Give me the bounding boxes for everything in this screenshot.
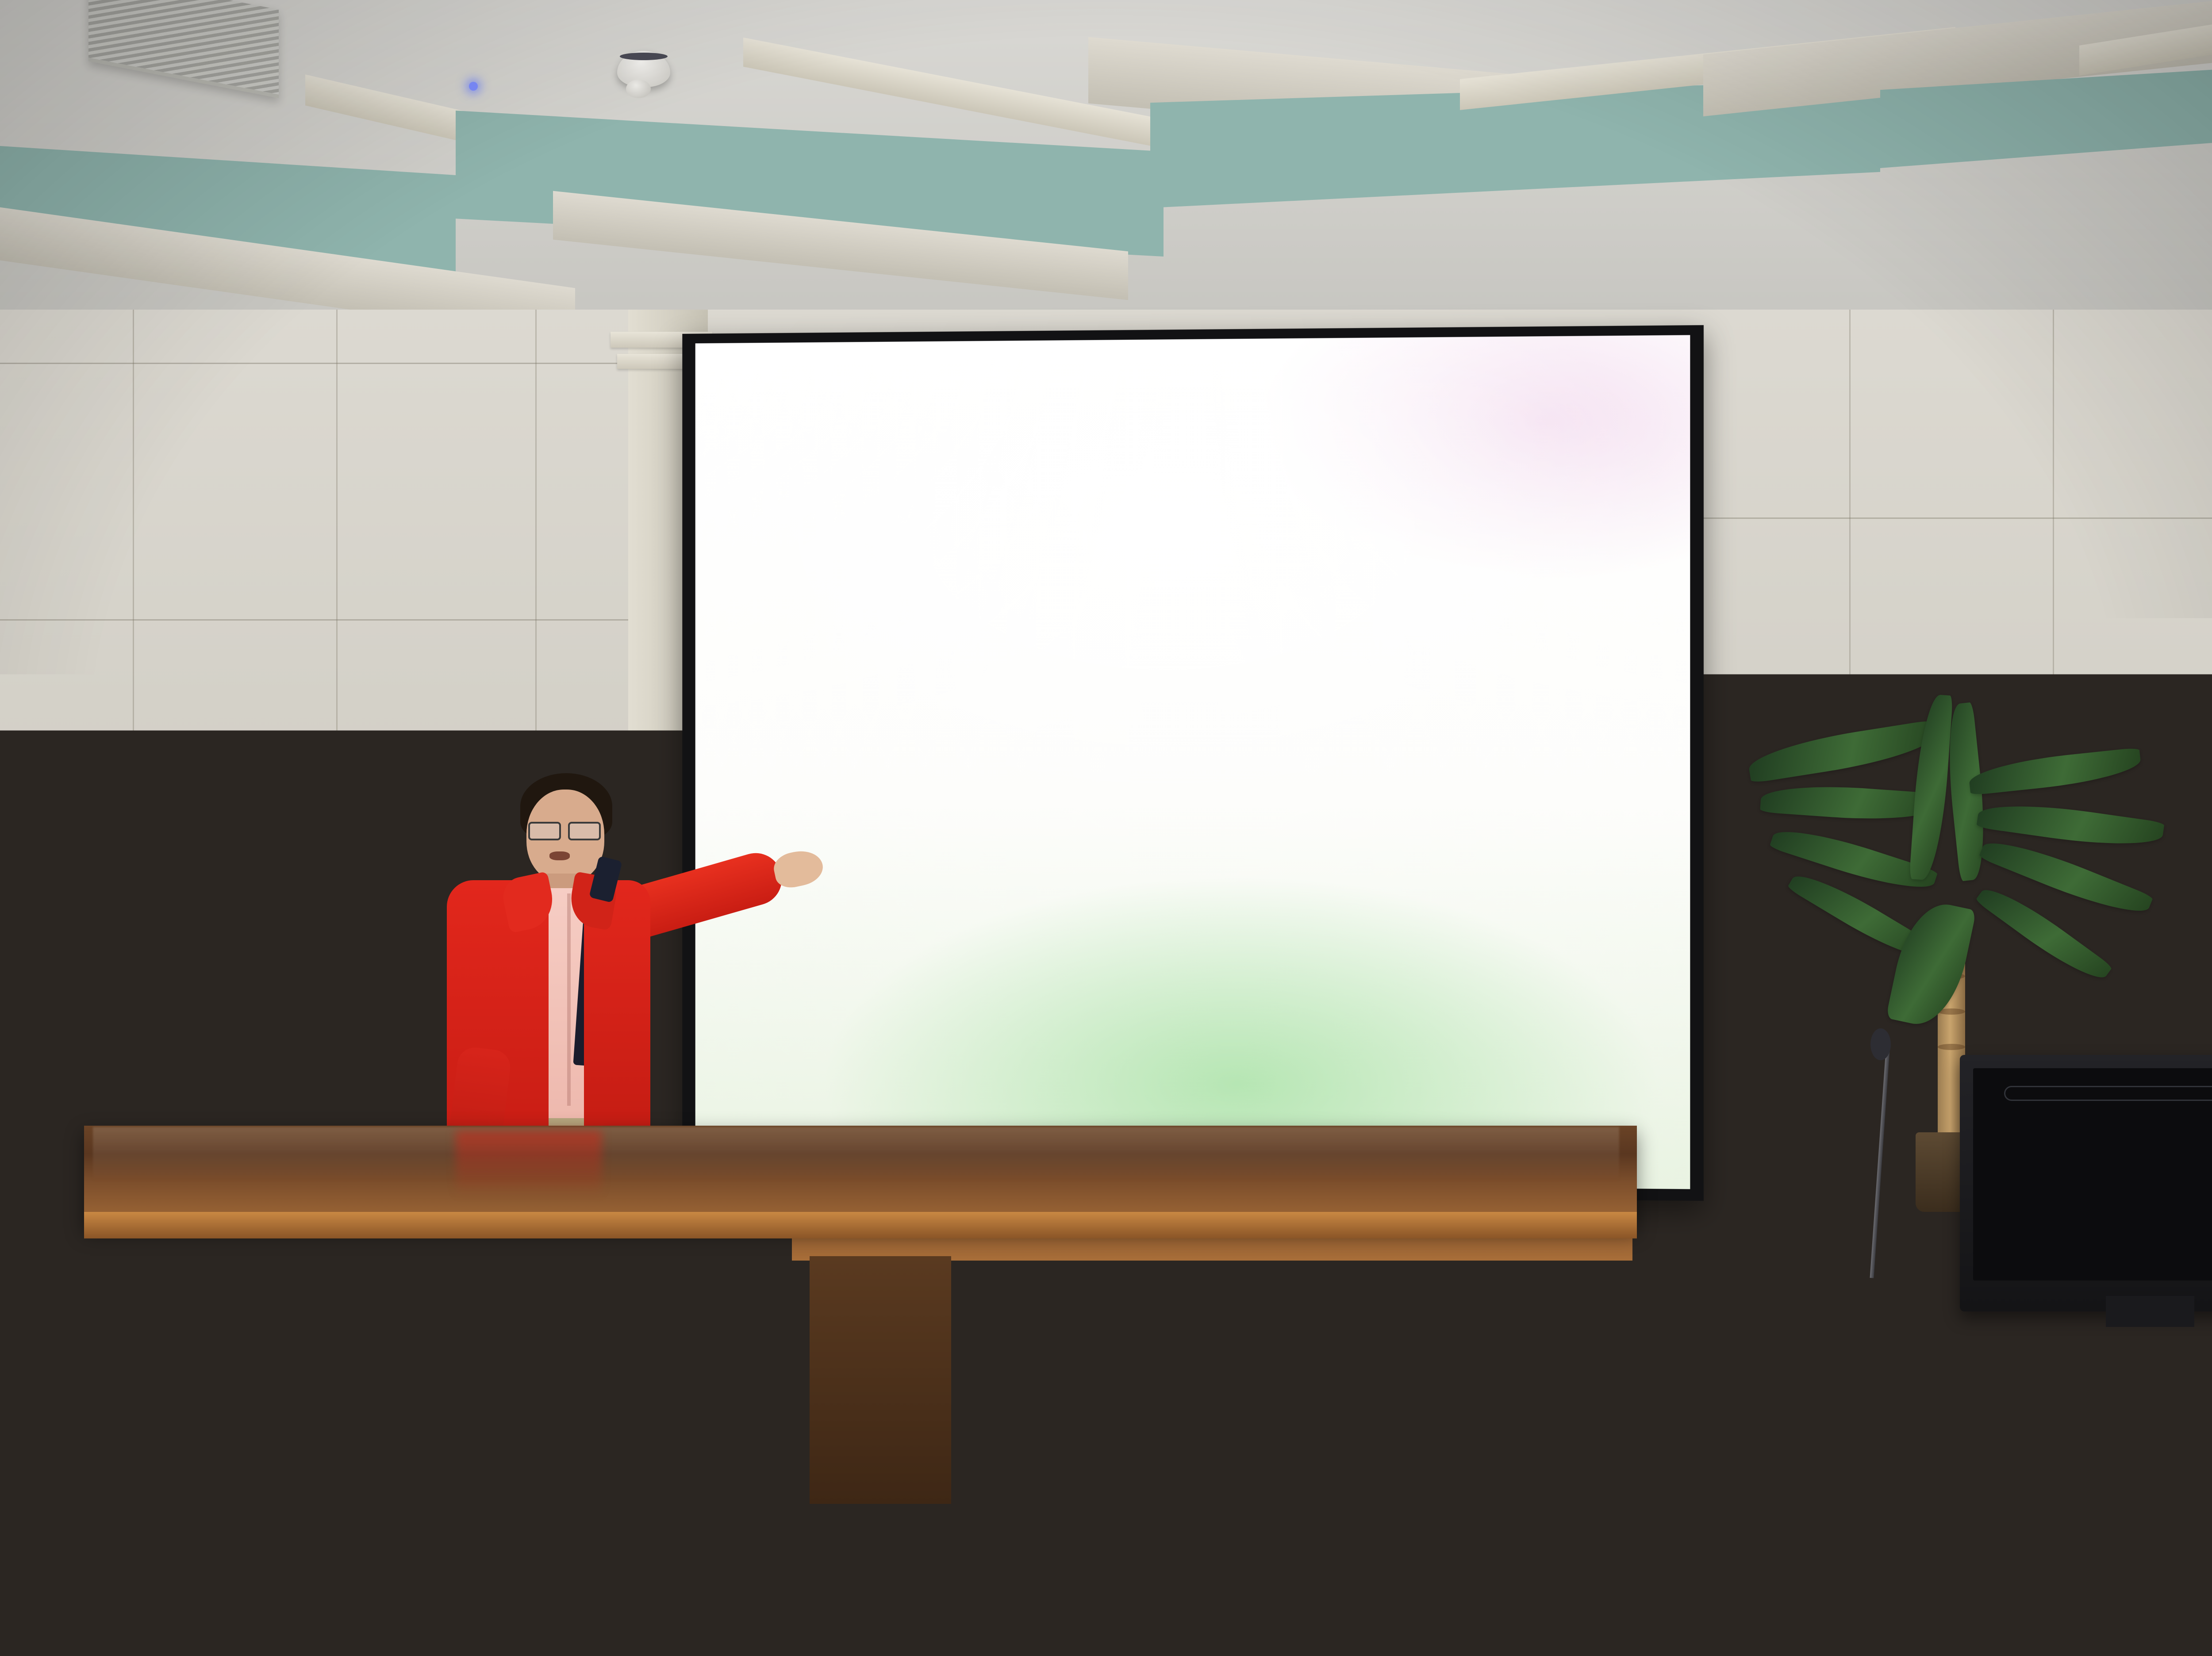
chart1-errorcap	[987, 668, 1002, 669]
chart2-y-tick	[1144, 889, 1151, 890]
presenter-mouth	[549, 851, 570, 860]
chart1-errorcap	[826, 778, 841, 779]
chart2-bar	[1368, 616, 1391, 889]
chart3-y-tick	[1451, 645, 1457, 646]
table-edge	[84, 1212, 1637, 1238]
chart3-x-tick-label: 600	[1601, 857, 1625, 867]
chart3-x-tick	[1665, 846, 1666, 852]
chart1-y-tick	[776, 805, 783, 806]
chart3-datapoint	[1560, 654, 1568, 661]
jade-stone-ornament	[84, 907, 204, 1075]
chart3-x-tick-label: 0	[1447, 848, 1467, 859]
chart2-errorbar	[1349, 667, 1350, 708]
chart2-datapoint	[1225, 805, 1231, 810]
chart1-x-axis-label: Caciuim inside buffer (nM)	[795, 951, 922, 964]
chart1-datapoint	[830, 808, 836, 813]
chart2-datapoint	[1376, 632, 1382, 637]
table-reflection	[456, 1131, 602, 1197]
chart2-datapoint	[1316, 706, 1322, 712]
chart1-errorcap	[890, 770, 905, 771]
chart1-errorcap	[955, 697, 970, 698]
smoke-detector-icon	[626, 80, 651, 98]
chart1-y-tick-label: 800	[743, 550, 772, 560]
chart2-errorcap	[1191, 777, 1206, 778]
ceiling	[0, 0, 2212, 336]
chart2-errorcap	[1281, 688, 1296, 690]
chart2-datapoint	[1346, 693, 1352, 698]
audience-ear	[349, 1499, 398, 1575]
control-device[interactable]	[2106, 1261, 2159, 1288]
chart3-x-tick-label: 400	[1549, 854, 1573, 864]
chart3-x-tick	[1613, 843, 1614, 850]
cardboard-box	[688, 1413, 816, 1488]
chart2-y-tick-label: 1.0·10⁶	[1087, 659, 1140, 670]
microphone-head-icon	[1870, 1028, 1891, 1060]
chart1-y-tick	[776, 556, 783, 557]
indicator-led-icon	[469, 82, 478, 91]
chart1-y-tick	[776, 639, 783, 640]
chart3-y-tick-label: 1.5×10⁶	[1390, 547, 1447, 558]
chart2-errorcap	[1221, 786, 1236, 787]
screen-surface: Correlation of Ca2+ with Exo production …	[695, 335, 1690, 1189]
conference-room-scene: Correlation of Ca2+ with Exo production …	[0, 0, 2212, 1656]
chart3-y-tick-label: 5.0×10⁵	[1390, 730, 1447, 740]
chart2-errorcap	[1342, 667, 1357, 668]
chart1-x-axis	[782, 888, 1049, 890]
plant-leaf	[1968, 747, 2143, 795]
chart-correlation-scatter: Correlation of Calcium and Exo productio…	[1390, 523, 1686, 1059]
chart1-bar	[918, 763, 943, 888]
chart3-datapoint	[1479, 826, 1486, 833]
chart1-y-tick	[776, 722, 783, 723]
chart3-datapoint	[1609, 604, 1617, 612]
chart-exo-number: 1.5·10⁶ 1.0·10⁶ 5.0·10⁵ 0 Exo number/cel…	[1067, 529, 1386, 1062]
chart3-x-tick	[1509, 838, 1510, 844]
chart3-x-tick	[1561, 840, 1562, 847]
table-leg	[1349, 1261, 1491, 1508]
chart3-y-tick-label: 1.0×10⁶	[1390, 639, 1447, 649]
projection-screen: Correlation of Ca2+ with Exo production …	[682, 325, 1704, 1201]
chart3-x-axis-label: Ca Conc. inside cell (nM)	[1457, 879, 1582, 893]
chart2-errorbar	[1319, 616, 1320, 740]
chart1-datapoint	[862, 807, 868, 813]
paper-cup	[1916, 1258, 1943, 1288]
plant-trunk-ring	[1938, 1044, 1965, 1050]
chart2-y-axis-label: Exo number/cell	[1069, 667, 1082, 786]
chart2-errorcap	[1311, 616, 1326, 617]
table-leg	[500, 1234, 633, 1491]
presentation-slide: Correlation of Ca2+ with Exo production …	[695, 335, 1690, 1189]
chart1-bar	[1016, 638, 1041, 888]
chart3-y-tick	[1451, 736, 1457, 738]
chart1-datapoint	[1024, 653, 1030, 659]
chart2-x-axis-label: Caciuim inside buffer (nM)	[1159, 952, 1288, 965]
podium	[1717, 1296, 2212, 1656]
chart2-bar	[1338, 687, 1361, 889]
plant-leaf	[1746, 720, 1939, 783]
chart2-bar	[1278, 710, 1301, 889]
chart1-errorcap	[923, 753, 938, 754]
chart1-datapoint	[895, 800, 900, 806]
chart1-x-tick-label: 0	[824, 892, 834, 902]
chart3-title: Correlation of Calcium and Exo productio…	[1408, 523, 1627, 537]
ornament-wood-stand	[66, 1086, 217, 1112]
chart1-y-tick-label: 200	[743, 798, 772, 809]
chart2-y-tick-label: 5.0·10⁵	[1087, 771, 1140, 781]
chart1-errorcap	[1020, 615, 1035, 617]
chart2-errorbar	[1258, 776, 1260, 806]
chart3-x-axis	[1457, 835, 1668, 837]
chart1-datapoint	[960, 737, 965, 743]
chart2-datapoint	[1195, 806, 1201, 812]
chart2-x-axis	[1150, 889, 1399, 891]
chart3-x-tick-label: 200	[1497, 851, 1521, 861]
control-device[interactable]	[2185, 1265, 2212, 1289]
table-leg	[810, 1256, 951, 1504]
chart3-datapoint	[1532, 682, 1539, 689]
chart1-errorcap	[794, 839, 808, 840]
glasses-icon	[528, 822, 601, 837]
chart3-x-tick-label: 800	[1653, 859, 1678, 870]
chart3-datapoint	[1510, 745, 1517, 753]
chart3-x-tick	[1457, 835, 1458, 841]
control-device[interactable]	[2011, 1258, 2081, 1289]
chart1-bar	[951, 721, 975, 888]
chart2-errorcap	[1251, 776, 1266, 777]
plant-leaf	[1760, 781, 1939, 824]
chart2-x-tick-label: 0	[1189, 893, 1199, 904]
wall-seam	[0, 363, 686, 364]
chart2-y-tick-label: 1.5·10⁶	[1087, 548, 1140, 558]
chart1-datapoint	[927, 768, 933, 774]
chart1-datapoint	[798, 841, 803, 847]
chart3-y-tick	[1451, 828, 1457, 829]
chart2-y-tick-label: 0	[1087, 882, 1140, 892]
wall-seam	[0, 619, 686, 621]
monitor-highlight	[2004, 1086, 2212, 1101]
chart2-errorcap	[1372, 590, 1387, 592]
cell-type-label: MEF cell	[1133, 503, 1187, 520]
chart1-datapoint	[992, 734, 998, 740]
table-gloss	[93, 1127, 1619, 1180]
chart2-y-tick	[1144, 554, 1151, 556]
chart1-y-axis-label: Calcium (nM)	[728, 678, 741, 774]
chart2-errorbar	[1288, 688, 1290, 737]
chart3-datapoint	[1516, 740, 1524, 748]
box-label	[748, 1426, 787, 1449]
chart1-errorcap	[858, 776, 873, 778]
chart2-y-axis	[1150, 554, 1152, 890]
chart2-y-tick	[1144, 777, 1151, 778]
chart2-datapoint	[1286, 717, 1291, 723]
chart2-datapoint	[1256, 794, 1261, 800]
wall-seam	[1703, 517, 2212, 519]
chart2-y-tick	[1144, 666, 1151, 667]
air-vent-icon	[88, 0, 279, 98]
audience-ear	[62, 1575, 119, 1632]
chart3-y-axis-label: Exo/Cell	[1396, 650, 1409, 730]
chart1-y-tick-label: 400	[743, 716, 772, 726]
chart3-datapoint	[1568, 663, 1575, 671]
chart1-y-tick-label: 600	[743, 632, 772, 643]
slide-title: Correlation of Ca2+ with Exo production	[734, 443, 1263, 477]
chart3-y-axis	[1457, 553, 1459, 828]
chart3-y-tick	[1451, 553, 1457, 554]
presenter-shirt-placket	[567, 893, 571, 1106]
chart3-y-tick-label: 0	[1390, 822, 1447, 832]
chart-calcium-concentration: Calcium concentration inside the cells a…	[713, 530, 1058, 1059]
plant-leaf	[1909, 694, 1953, 881]
chart1-title: Calcium concentration inside the cells a…	[719, 530, 961, 545]
